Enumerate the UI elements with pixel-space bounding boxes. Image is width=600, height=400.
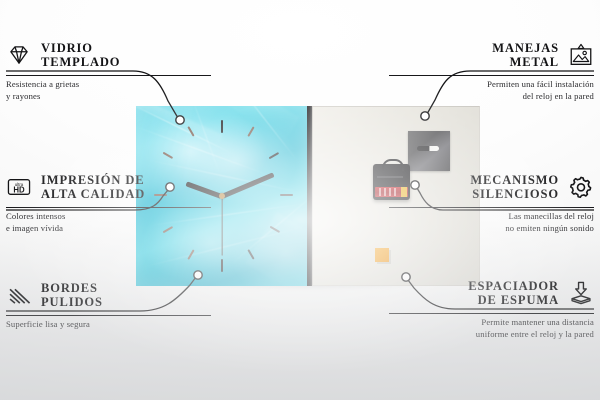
svg-text:HD: HD [13,185,25,194]
feature-title: MECANISMO SILENCIOSO [470,173,559,202]
polished-edges-icon [6,282,32,308]
feature-divider [6,75,211,76]
foam-spacer-icon [568,280,594,306]
feature-description: Las manecillas del reloj no emiten ningú… [389,211,594,233]
feature-impresion-alta-calidad[interactable]: ultra HD IMPRESIÓN DE ALTA CALIDAD Color… [6,170,211,234]
feature-header: BORDES PULIDOS [6,278,211,312]
feature-title: ESPACIADOR DE ESPUMA [468,279,559,308]
gear-icon [568,174,594,200]
feature-header: ESPACIADOR DE ESPUMA [389,276,594,310]
feature-header: ultra HD IMPRESIÓN DE ALTA CALIDAD [6,170,211,204]
feature-title: BORDES PULIDOS [41,281,103,310]
feature-title: VIDRIO TEMPLADO [41,41,120,70]
feature-description: Permiten una fácil instalación del reloj… [389,79,594,101]
feature-title: IMPRESIÓN DE ALTA CALIDAD [41,173,145,202]
feature-divider [389,313,594,314]
feature-divider [389,207,594,208]
clock-second-hand [221,196,222,256]
ultra-hd-icon: ultra HD [6,174,32,200]
feature-manejas-metal[interactable]: MANEJAS METAL Permiten una fácil instala… [389,38,594,102]
feature-header: MANEJAS METAL [389,38,594,72]
feature-bordes-pulidos[interactable]: BORDES PULIDOS Superficie lisa y segura [6,278,211,331]
infographic-stage: VIDRIO TEMPLADO Resistencia a grietas y … [0,0,600,400]
feature-description: Permite mantener una distancia uniforme … [389,317,594,339]
feature-divider [389,75,594,76]
feature-title: MANEJAS METAL [492,41,559,70]
foam-spacer [375,248,389,262]
feature-espaciador-espuma[interactable]: ESPACIADOR DE ESPUMA Permite mantener un… [389,276,594,340]
picture-hanger-icon [568,42,594,68]
feature-description: Resistencia a grietas y rayones [6,79,211,101]
feature-divider [6,207,211,208]
diamond-icon [6,42,32,68]
feature-mecanismo-silencioso[interactable]: MECANISMO SILENCIOSO Las manecillas del … [389,170,594,234]
feature-header: MECANISMO SILENCIOSO [389,170,594,204]
feature-vidrio-templado[interactable]: VIDRIO TEMPLADO Resistencia a grietas y … [6,38,211,102]
feature-description: Superficie lisa y segura [6,319,211,330]
feature-header: VIDRIO TEMPLADO [6,38,211,72]
feature-divider [6,315,211,316]
feature-description: Colores intensos e imagen vívida [6,211,211,233]
metal-hanger-plate [408,131,450,171]
clock-center-cap [219,193,225,199]
hanger-slot [417,146,439,151]
